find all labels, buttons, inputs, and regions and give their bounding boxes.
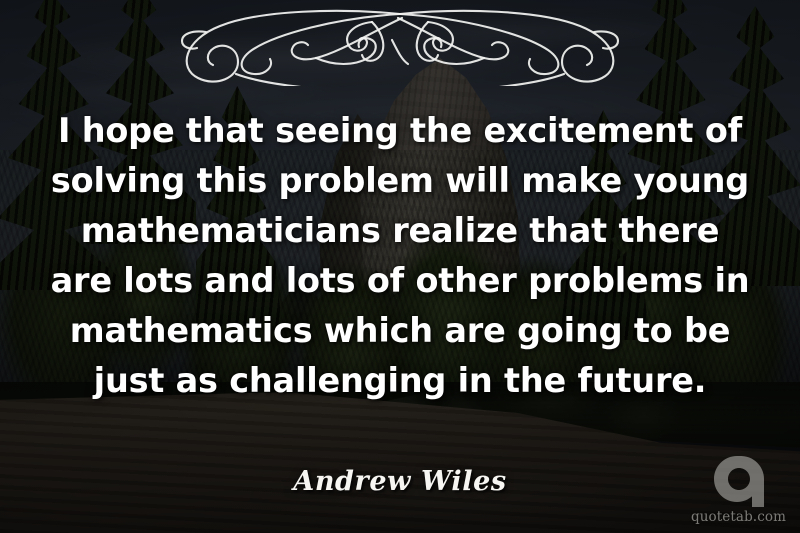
- author-name[interactable]: Andrew Wiles: [293, 466, 506, 497]
- watermark[interactable]: quotetab.com: [691, 454, 786, 525]
- quote-text-block: I hope that seeing the excitement of sol…: [0, 106, 800, 406]
- quote-text: I hope that seeing the excitement of sol…: [34, 106, 766, 406]
- quotetab-logo-icon: [712, 454, 766, 508]
- quote-image-card: I hope that seeing the excitement of sol…: [0, 0, 800, 533]
- author-attribution: Andrew Wiles: [0, 466, 800, 497]
- watermark-site-label: quotetab.com: [691, 509, 786, 525]
